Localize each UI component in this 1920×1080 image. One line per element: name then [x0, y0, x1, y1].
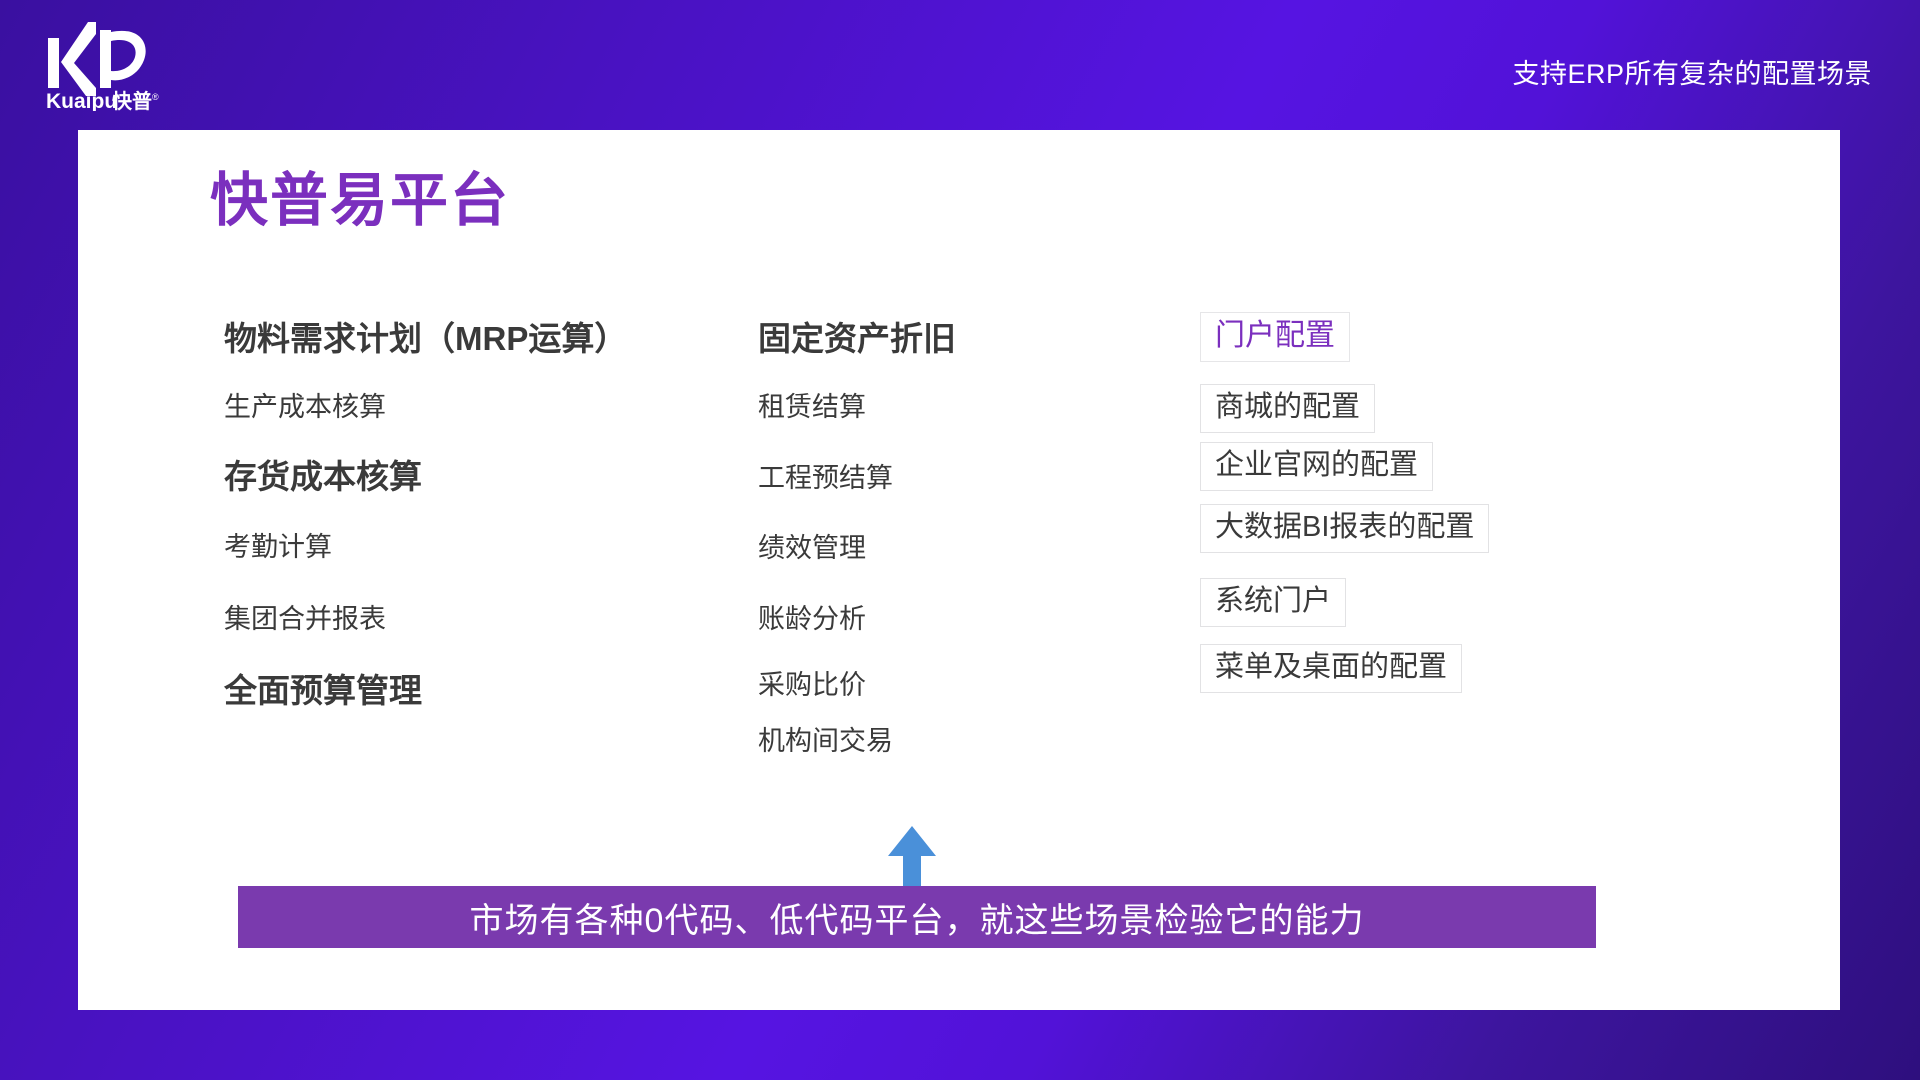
- list-item: 租赁结算: [758, 392, 866, 422]
- bottom-callout-banner: 市场有各种0代码、低代码平台，就这些场景检验它的能力: [238, 886, 1596, 948]
- config-chip-bi[interactable]: 大数据BI报表的配置: [1200, 504, 1489, 553]
- header-tagline: 支持ERP所有复杂的配置场景: [1512, 52, 1872, 91]
- config-chip-website[interactable]: 企业官网的配置: [1200, 442, 1433, 491]
- list-item: 存货成本核算: [224, 458, 422, 495]
- config-chip-portal[interactable]: 门户配置: [1200, 312, 1350, 362]
- list-item: 考勤计算: [224, 532, 332, 562]
- list-item: 生产成本核算: [224, 392, 386, 422]
- list-item: 机构间交易: [758, 726, 893, 756]
- list-item-suffix: （MRP运算）: [422, 320, 627, 357]
- slide-root: Kuaipu 快普 ® 支持ERP所有复杂的配置场景 快普易平台 物料需求计划（…: [0, 0, 1920, 1080]
- list-item: 物料需求计划: [224, 320, 422, 357]
- list-item: 全面预算管理: [224, 672, 422, 709]
- content-card: 快普易平台 物料需求计划（MRP运算） 生产成本核算 存货成本核算 考勤计算 集…: [78, 130, 1840, 1010]
- list-item: 账龄分析: [758, 604, 866, 634]
- list-item: 固定资产折旧: [758, 320, 956, 357]
- config-chip-mall[interactable]: 商城的配置: [1200, 384, 1375, 433]
- registered-mark-icon: ®: [152, 92, 159, 102]
- list-item: 工程预结算: [758, 463, 893, 493]
- logo-wordmark-cn: 快普: [112, 89, 152, 111]
- list-item: 绩效管理: [758, 533, 866, 563]
- page-title: 快普易平台: [210, 172, 510, 230]
- logo-wordmark: Kuaipu: [46, 90, 117, 111]
- kuaipu-logo: Kuaipu 快普 ®: [44, 16, 184, 111]
- banner-text: 市场有各种0代码、低代码平台，就这些场景检验它的能力: [470, 893, 1365, 942]
- list-item: 集团合并报表: [224, 604, 386, 634]
- list-item: 采购比价: [758, 670, 866, 700]
- config-chip-system-portal[interactable]: 系统门户: [1200, 578, 1346, 627]
- config-chip-menu-desktop[interactable]: 菜单及桌面的配置: [1200, 644, 1462, 693]
